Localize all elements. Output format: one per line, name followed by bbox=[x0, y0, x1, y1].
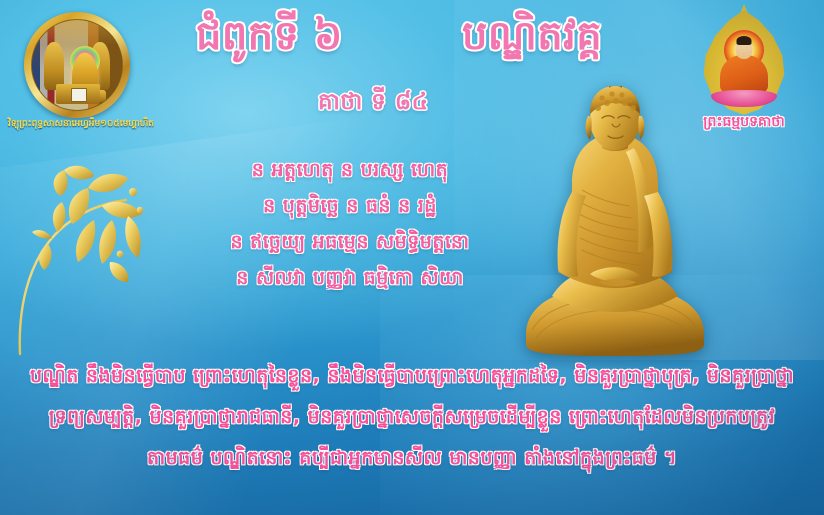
medallion-photo bbox=[31, 19, 123, 111]
buddha-head bbox=[736, 38, 753, 59]
altar-base bbox=[56, 84, 100, 104]
buddha-robe bbox=[720, 55, 768, 95]
prose-line: បណ្ឌិត នឹងមិនធ្វើបាប ព្រោះហេតុនៃខ្លួន, ន… bbox=[0, 356, 824, 397]
prose-translation-block: បណ្ឌិត នឹងមិនធ្វើបាប ព្រោះហេតុនៃខ្លួន, ន… bbox=[0, 356, 824, 479]
dhammapada-verse-poster: វិទ្យុព្រះពុទ្ធសាសនាអេហ្វអឹម១០៥មេហ្គាហឺត… bbox=[0, 0, 824, 515]
golden-seated-buddha-statue bbox=[512, 86, 718, 366]
chapter-title: ជំពូកទី ៦ bbox=[196, 10, 343, 69]
medallion-caption: វិទ្យុព្រះពុទ្ធសាសនាអេហ្វអឹម១០៥មេហ្គាហឺត bbox=[6, 118, 156, 131]
lotus-seat-icon bbox=[711, 90, 777, 107]
gatha-subtitle: គាថា ទី ៨៤ bbox=[318, 88, 428, 121]
prose-line: ទ្រព្យសម្បត្តិ, មិនគួរប្រាថ្នារាជធានី, ម… bbox=[0, 397, 824, 438]
prose-line: តាមធម៌ បណ្ឌិតនោះ គប្បីជាអ្នកមានសីល មានបញ… bbox=[0, 438, 824, 479]
temple-buddha-photo-medallion bbox=[24, 12, 130, 118]
topic-title: បណ្ឌិតវគ្គ bbox=[462, 10, 602, 69]
standing-monk-statue-left bbox=[44, 42, 64, 90]
